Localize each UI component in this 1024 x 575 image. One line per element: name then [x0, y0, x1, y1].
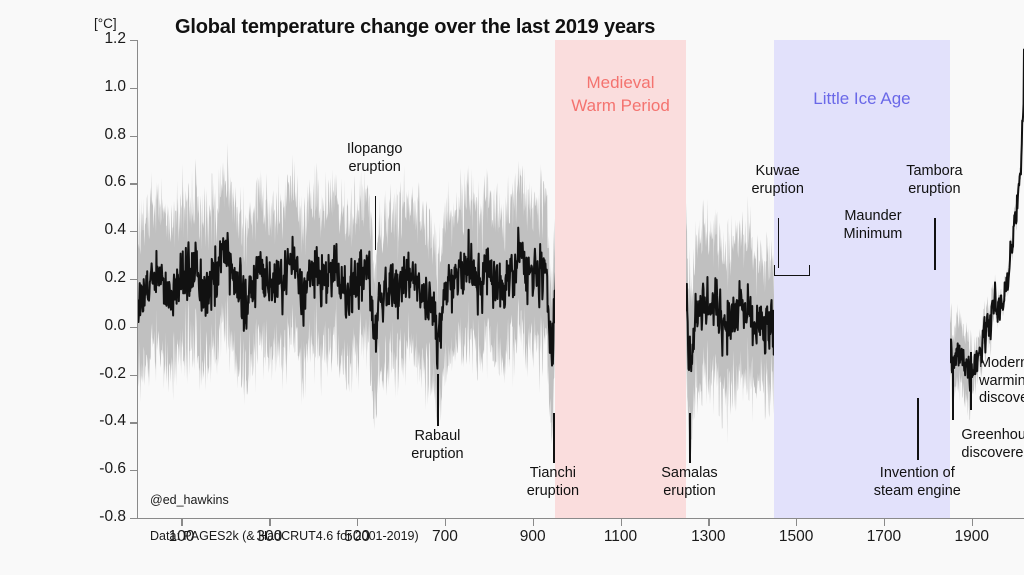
annotation-invention-of-steam-engine: Invention ofsteam engine: [827, 465, 1007, 500]
era-label-medieval-warm-period: MedievalWarm Period: [555, 72, 687, 118]
annotation-tick-samalas-eruption: [689, 413, 691, 463]
annotation-greenhouse-effect-discovered: Greenhouse effectdiscovered: [961, 427, 1024, 462]
credit-block: @ed_hawkins Data: PAGES2k (& HadCRUT4.6 …: [150, 473, 419, 564]
x-axis-tick-label: 1700: [849, 528, 919, 546]
x-axis-tick-label: 1900: [937, 528, 1007, 546]
x-axis-tick-label: 700: [410, 528, 480, 546]
era-band-little-ice-age: [774, 40, 950, 518]
y-axis-tick-label: -0.4: [82, 412, 126, 430]
annotation-line: eruption: [688, 181, 868, 199]
x-axis-tick: [796, 519, 797, 526]
x-axis-tick-label: 1300: [673, 528, 743, 546]
annotation-line: eruption: [347, 446, 527, 464]
annotation-kuwae-eruption: Kuwaeeruption: [688, 163, 868, 198]
annotation-line: Maunder: [783, 208, 963, 226]
x-axis-tick: [708, 519, 709, 526]
era-label-line: Warm Period: [555, 95, 687, 118]
annotation-tick-rabaul-eruption: [437, 374, 439, 426]
y-axis-tick-label: 1.2: [82, 30, 126, 48]
annotation-line: discovered: [961, 445, 1024, 463]
annotation-line: eruption: [285, 159, 465, 177]
era-label-line: Little Ice Age: [774, 88, 950, 111]
annotation-line: Invention of: [827, 465, 1007, 483]
annotation-tick-greenhouse-effect-discovered: [952, 362, 954, 420]
y-axis-tick: [130, 422, 137, 423]
annotation-line: Minimum: [783, 226, 963, 244]
annotation-line: eruption: [844, 181, 1024, 199]
y-axis-tick: [130, 88, 137, 89]
era-label-little-ice-age: Little Ice Age: [774, 88, 950, 111]
annotation-line: Ilopango: [285, 141, 465, 159]
era-label-line: Medieval: [555, 72, 687, 95]
y-axis-tick: [130, 327, 137, 328]
annotation-tick-kuwae-eruption: [778, 218, 780, 268]
y-axis-tick: [130, 470, 137, 471]
y-axis-tick-label: -0.8: [82, 508, 126, 526]
y-axis-tick-label: 0.0: [82, 317, 126, 335]
annotation-samalas-eruption: Samalaseruption: [599, 465, 779, 500]
y-axis-tick-label: 0.4: [82, 221, 126, 239]
y-axis-tick: [130, 136, 137, 137]
annotation-tick-ilopango-eruption: [375, 196, 377, 250]
y-axis-tick-label: 0.8: [82, 126, 126, 144]
y-axis-tick-label: 0.6: [82, 173, 126, 191]
y-axis-unit-label: [°C]: [94, 16, 117, 31]
y-axis-tick: [130, 518, 137, 519]
annotation-line: Samalas: [599, 465, 779, 483]
annotation-bracket-maunder-minimum: [774, 265, 810, 276]
annotation-tambora-eruption: Tamboraeruption: [844, 163, 1024, 198]
annotation-rabaul-eruption: Rabauleruption: [347, 428, 527, 463]
annotation-line: Rabaul: [347, 428, 527, 446]
annotation-line: Kuwae: [688, 163, 868, 181]
x-axis-tick: [445, 519, 446, 526]
x-axis-tick: [884, 519, 885, 526]
x-axis-tick-label: 1100: [586, 528, 656, 546]
annotation-tick-modern-warming-discovered: [970, 352, 972, 410]
y-axis-tick: [130, 183, 137, 184]
credit-source: Data: PAGES2k (& HadCRUT4.6 for 2001-201…: [150, 527, 419, 545]
annotation-line: Greenhouse effect: [961, 427, 1024, 445]
y-axis-tick: [130, 375, 137, 376]
annotation-modern-warming-discovered: Modernwarmingdiscovered: [979, 355, 1024, 408]
page-title: Global temperature change over the last …: [175, 16, 655, 39]
annotation-line: eruption: [599, 483, 779, 501]
x-axis-tick-label: 900: [498, 528, 568, 546]
y-axis-tick: [130, 40, 137, 41]
x-axis-tick: [621, 519, 622, 526]
annotation-maunder-minimum: MaunderMinimum: [783, 208, 963, 243]
y-axis-tick: [130, 279, 137, 280]
annotation-line: steam engine: [827, 483, 1007, 501]
credit-handle: @ed_hawkins: [150, 491, 419, 509]
annotation-line: Tambora: [844, 163, 1024, 181]
y-axis-tick-label: -0.6: [82, 460, 126, 478]
x-axis-tick: [972, 519, 973, 526]
annotation-line: discovered: [979, 390, 1024, 408]
y-axis-tick-label: -0.2: [82, 365, 126, 383]
x-axis-tick-label: 1500: [761, 528, 831, 546]
annotation-tick-tianchi-eruption: [553, 413, 555, 463]
y-axis-tick-label: 0.2: [82, 269, 126, 287]
y-axis-tick-label: 1.0: [82, 78, 126, 96]
x-axis-tick: [533, 519, 534, 526]
y-axis-tick: [130, 231, 137, 232]
annotation-line: Modern: [979, 355, 1024, 373]
annotation-tick-invention-of-steam-engine: [917, 398, 919, 460]
annotation-ilopango-eruption: Ilopangoeruption: [285, 141, 465, 176]
annotation-line: warming: [979, 373, 1024, 391]
